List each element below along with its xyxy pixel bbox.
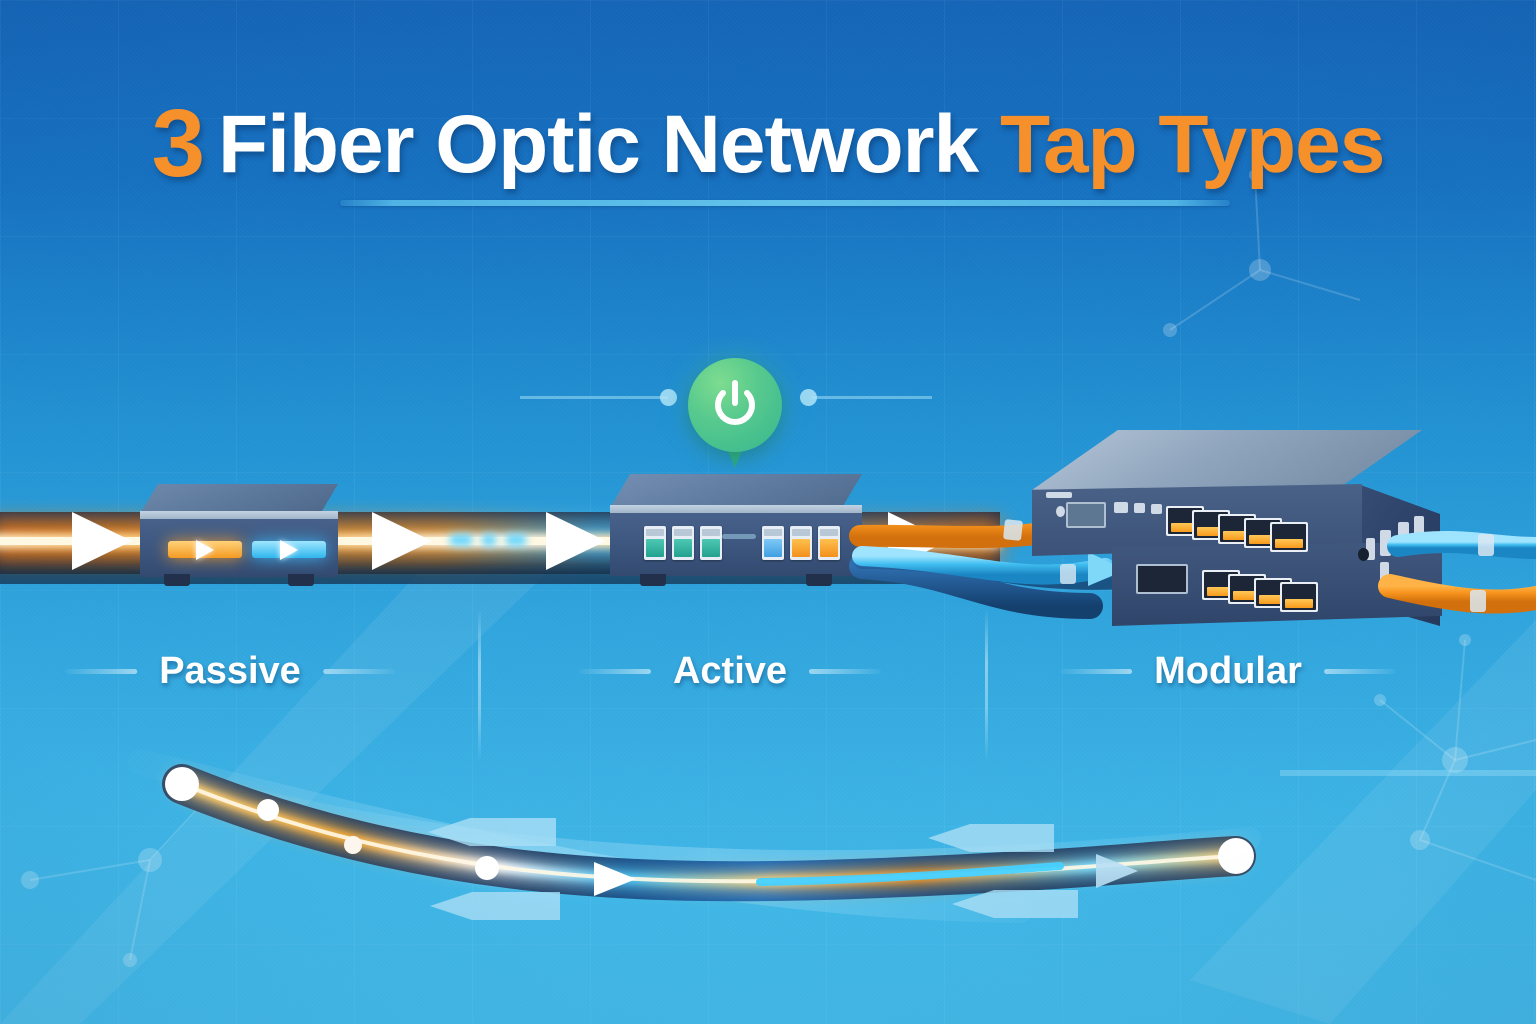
label-dash-left xyxy=(579,669,651,674)
device-top-panel xyxy=(610,474,862,508)
chassis-display-module xyxy=(1066,502,1106,528)
chassis-side-vent-4 xyxy=(1380,562,1389,586)
infographic-canvas: 3Fiber Optic Network Tap Types xyxy=(0,0,1536,1024)
power-lead-left xyxy=(520,396,668,399)
section-divider-1 xyxy=(478,610,481,760)
title-accent: Tap Types xyxy=(1000,99,1384,190)
power-icon xyxy=(711,380,759,430)
active-port-1[interactable] xyxy=(644,526,666,560)
arrow-right-icon xyxy=(196,540,214,560)
section-label-row: Passive Active Modular xyxy=(0,650,1536,720)
passive-tap-device[interactable] xyxy=(140,484,338,586)
device-foot xyxy=(806,574,832,586)
chassis-top-panel xyxy=(1032,430,1422,490)
active-port-3[interactable] xyxy=(700,526,722,560)
label-dash-right xyxy=(1324,669,1396,674)
label-dash-right xyxy=(809,669,881,674)
device-foot xyxy=(288,574,314,586)
device-top-panel xyxy=(140,484,338,514)
page-title: 3Fiber Optic Network Tap Types xyxy=(0,96,1536,192)
chassis-button-1[interactable] xyxy=(1114,502,1128,513)
label-dash-right xyxy=(323,669,395,674)
device-foot xyxy=(164,574,190,586)
active-port-4[interactable] xyxy=(762,526,784,560)
chassis-side-vent-5 xyxy=(1414,516,1424,540)
title-underline xyxy=(340,200,1230,206)
chassis-status-strip xyxy=(1046,492,1072,498)
chassis-side-vent-2 xyxy=(1380,530,1391,556)
chassis-side-vent-3 xyxy=(1398,522,1409,548)
power-lead-right xyxy=(812,396,932,399)
label-dash-left xyxy=(65,669,137,674)
sidebar-item-passive[interactable]: Passive xyxy=(65,650,395,693)
active-panel-divider xyxy=(722,534,756,539)
active-port-2[interactable] xyxy=(672,526,694,560)
power-lead-dot-right xyxy=(800,389,817,406)
passive-indicator-orange xyxy=(168,541,242,558)
label-dash-left xyxy=(1060,669,1132,674)
passive-indicator-cyan xyxy=(252,541,326,558)
chassis-side-jack xyxy=(1358,548,1369,561)
sidebar-item-modular[interactable]: Modular xyxy=(1060,650,1396,693)
chassis-button-3[interactable] xyxy=(1151,504,1162,514)
arrow-right-icon xyxy=(280,540,298,560)
sidebar-item-active[interactable]: Active xyxy=(579,650,881,693)
modular-chassis-device[interactable] xyxy=(1014,430,1444,630)
power-status-badge[interactable] xyxy=(688,358,782,476)
chassis-module-slot[interactable] xyxy=(1136,564,1188,594)
chassis-indicator-led xyxy=(1056,506,1065,517)
chassis-button-2[interactable] xyxy=(1134,503,1145,513)
power-lead-dot-left xyxy=(660,389,677,406)
device-foot xyxy=(640,574,666,586)
title-number: 3 xyxy=(152,90,204,197)
section-divider-2 xyxy=(985,610,988,760)
chassis-port-l4[interactable] xyxy=(1280,582,1318,612)
active-tap-device[interactable] xyxy=(610,474,862,586)
label-modular: Modular xyxy=(1154,650,1302,693)
chassis-port-u5[interactable] xyxy=(1270,522,1308,552)
label-active: Active xyxy=(673,650,787,693)
label-passive: Passive xyxy=(159,650,301,693)
active-port-6[interactable] xyxy=(818,526,840,560)
title-main: Fiber Optic Network xyxy=(218,99,978,190)
active-port-5[interactable] xyxy=(790,526,812,560)
